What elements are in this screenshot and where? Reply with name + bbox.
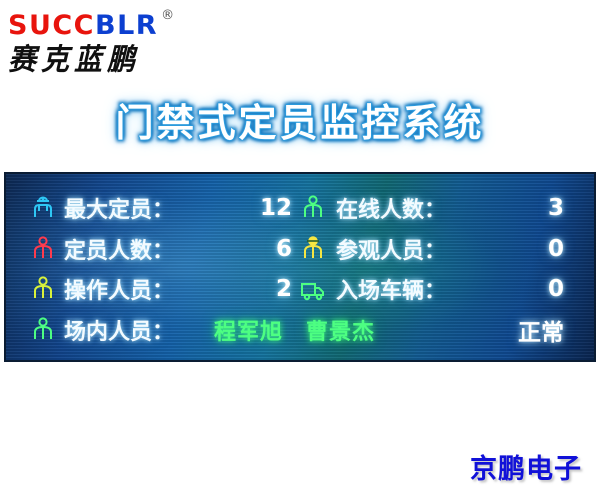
led-value-onsite-names: 程军旭 曹景杰	[214, 314, 486, 346]
page-title: 门禁式定员监控系统	[0, 92, 600, 147]
person-green-icon	[30, 316, 64, 344]
person-yellow-hat-icon	[300, 235, 336, 263]
led-label-assigned-count: 定员人数：	[64, 233, 214, 265]
brand-wordmark-part1: SUCC	[8, 10, 95, 41]
led-status-badge: 正常	[486, 313, 572, 347]
truck-green-icon	[300, 275, 336, 303]
brand-wordmark: SUCCBLR®	[8, 6, 238, 41]
registered-trademark-icon: ®	[161, 8, 176, 23]
brand-wordmark-part2: BLR	[95, 10, 158, 41]
person-green-icon	[300, 194, 336, 222]
brand-logo: SUCCBLR® 赛克蓝鹏	[8, 6, 238, 74]
led-content-grid: 最大定员： 12 在线人数： 3 定员人数： 6	[6, 174, 594, 360]
led-value-max-capacity: 12	[214, 195, 300, 221]
person-blue-cap-icon	[30, 194, 64, 222]
person-red-icon	[30, 235, 64, 263]
led-value-assigned-count: 6	[214, 236, 300, 262]
led-label-onsite-personnel: 场内人员：	[64, 314, 214, 346]
led-value-visitor-count: 0	[486, 236, 572, 262]
footer-brand: 京鹏电子	[470, 447, 582, 486]
led-label-operator-count: 操作人员：	[64, 273, 214, 305]
led-label-max-capacity: 最大定员：	[64, 192, 214, 224]
led-label-online-count: 在线人数：	[336, 192, 486, 224]
led-value-operator-count: 2	[214, 276, 300, 302]
led-value-vehicle-count: 0	[486, 276, 572, 302]
led-value-online-count: 3	[486, 195, 572, 221]
person-yellow-icon	[30, 275, 64, 303]
led-display-panel: 最大定员： 12 在线人数： 3 定员人数： 6	[4, 172, 596, 362]
led-label-visitor-count: 参观人员：	[336, 233, 486, 265]
led-label-vehicle-count: 入场车辆：	[336, 273, 486, 305]
brand-chinese-name: 赛克蓝鹏	[8, 42, 238, 78]
